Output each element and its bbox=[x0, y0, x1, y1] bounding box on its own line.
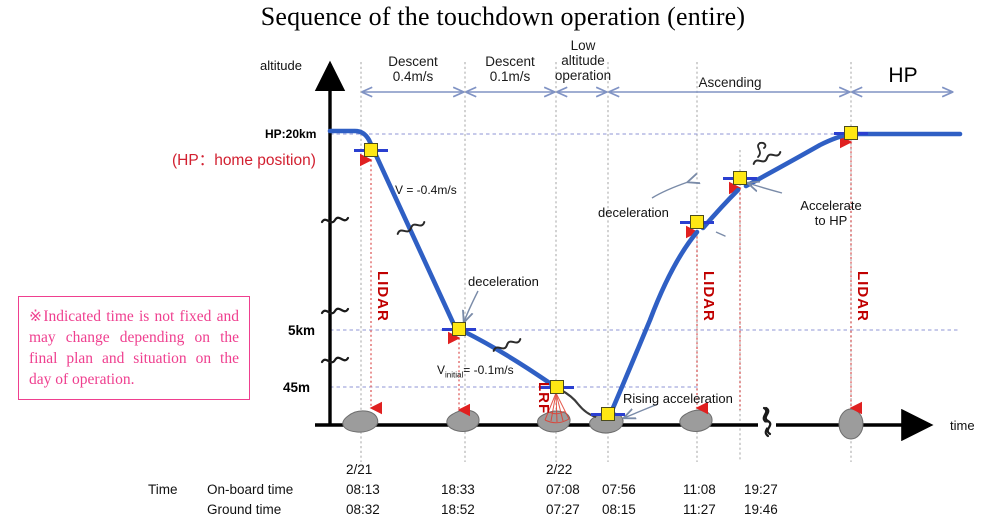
phase-low-alt-line3: operation bbox=[548, 68, 618, 83]
timetable-row-label-onboard: On-board time bbox=[207, 482, 293, 497]
timetable-date-1: 2/22 bbox=[546, 462, 572, 477]
ground-time-1: 18:52 bbox=[441, 502, 475, 517]
spacecraft-marker bbox=[697, 222, 698, 223]
spacecraft-body-icon bbox=[364, 143, 378, 157]
onboard-time-4: 11:08 bbox=[683, 482, 716, 497]
label-lrf: LRF bbox=[535, 382, 552, 414]
v-initial-symbol: V bbox=[437, 363, 445, 377]
annotation-rising-acceleration: Rising acceleration bbox=[623, 391, 733, 406]
diagram-canvas: Sequence of the touchdown operation (ent… bbox=[0, 0, 1006, 526]
spacecraft-marker bbox=[557, 387, 558, 388]
phase-label-descent-04: Descent 0.4m/s bbox=[361, 54, 465, 84]
label-lidar-1: LIDAR bbox=[374, 271, 391, 322]
annotation-accelerate-to-hp: Accelerate to HP bbox=[786, 198, 876, 228]
phase-low-alt-line2: altitude bbox=[548, 53, 618, 68]
y-axis-label: altitude bbox=[260, 58, 302, 73]
y-tick-5km: 5km bbox=[288, 323, 315, 338]
spacecraft-body-icon bbox=[550, 380, 564, 394]
phase-descent-01-line2: 0.1m/s bbox=[458, 69, 562, 84]
spacecraft-marker bbox=[851, 133, 852, 134]
spacecraft-body-icon bbox=[690, 215, 704, 229]
ground-time-2: 07:27 bbox=[546, 502, 580, 517]
timetable-date-0: 2/21 bbox=[346, 462, 372, 477]
label-lidar-3: LIDAR bbox=[854, 271, 871, 322]
phase-descent-04-line1: Descent bbox=[361, 54, 465, 69]
timetable-row-label-ground: Ground time bbox=[207, 502, 281, 517]
spacecraft-marker bbox=[371, 150, 372, 151]
note-box: ※Indicated time is not fixed and may cha… bbox=[18, 296, 250, 400]
phase-low-alt-line1: Low bbox=[548, 38, 618, 53]
onboard-time-0: 08:13 bbox=[346, 482, 380, 497]
spacecraft-body-icon bbox=[733, 171, 747, 185]
annotation-deceleration-2: deceleration bbox=[598, 205, 669, 220]
spacecraft-marker bbox=[740, 178, 741, 179]
annotation-v-initial: Vinitial= -0.1m/s bbox=[437, 363, 514, 379]
spacecraft-marker bbox=[459, 329, 460, 330]
annotation-deceleration-1: deceleration bbox=[468, 274, 539, 289]
spacecraft-body-icon bbox=[452, 322, 466, 336]
phase-ascending-line1: Ascending bbox=[630, 75, 830, 90]
onboard-time-2: 07:08 bbox=[546, 482, 580, 497]
annotation-v-descent: V = -0.4m/s bbox=[395, 183, 457, 197]
x-axis-label: time bbox=[950, 418, 975, 433]
label-lidar-2: LIDAR bbox=[700, 271, 717, 322]
onboard-time-1: 18:33 bbox=[441, 482, 475, 497]
phase-label-descent-01: Descent 0.1m/s bbox=[458, 54, 562, 84]
spacecraft-body-icon bbox=[601, 407, 615, 421]
y-tick-hp20km: HP:20km bbox=[265, 127, 316, 141]
hp-home-position-legend: (HP：home position) bbox=[172, 148, 316, 170]
ground-time-3: 08:15 bbox=[602, 502, 636, 517]
v-initial-subscript: initial bbox=[445, 370, 463, 379]
phase-label-hp: HP bbox=[853, 64, 953, 88]
v-initial-value: = -0.1m/s bbox=[463, 363, 513, 377]
timetable-section-label: Time bbox=[148, 482, 178, 497]
ground-time-0: 08:32 bbox=[346, 502, 380, 517]
note-text: ※Indicated time is not fixed and may cha… bbox=[29, 306, 239, 390]
phase-descent-01-line1: Descent bbox=[458, 54, 562, 69]
accelerate-line1: Accelerate bbox=[786, 198, 876, 213]
ground-time-5: 19:46 bbox=[744, 502, 778, 517]
spacecraft-body-icon bbox=[844, 126, 858, 140]
y-tick-45m: 45m bbox=[283, 380, 310, 395]
onboard-time-5: 19:27 bbox=[744, 482, 778, 497]
onboard-time-3: 07:56 bbox=[602, 482, 636, 497]
accelerate-line2: to HP bbox=[786, 213, 876, 228]
phase-label-ascending: Ascending bbox=[630, 75, 830, 90]
phase-descent-04-line2: 0.4m/s bbox=[361, 69, 465, 84]
spacecraft-marker-touchdown bbox=[608, 414, 609, 415]
phase-label-low-altitude: Low altitude operation bbox=[548, 38, 618, 83]
ground-time-4: 11:27 bbox=[683, 502, 716, 517]
